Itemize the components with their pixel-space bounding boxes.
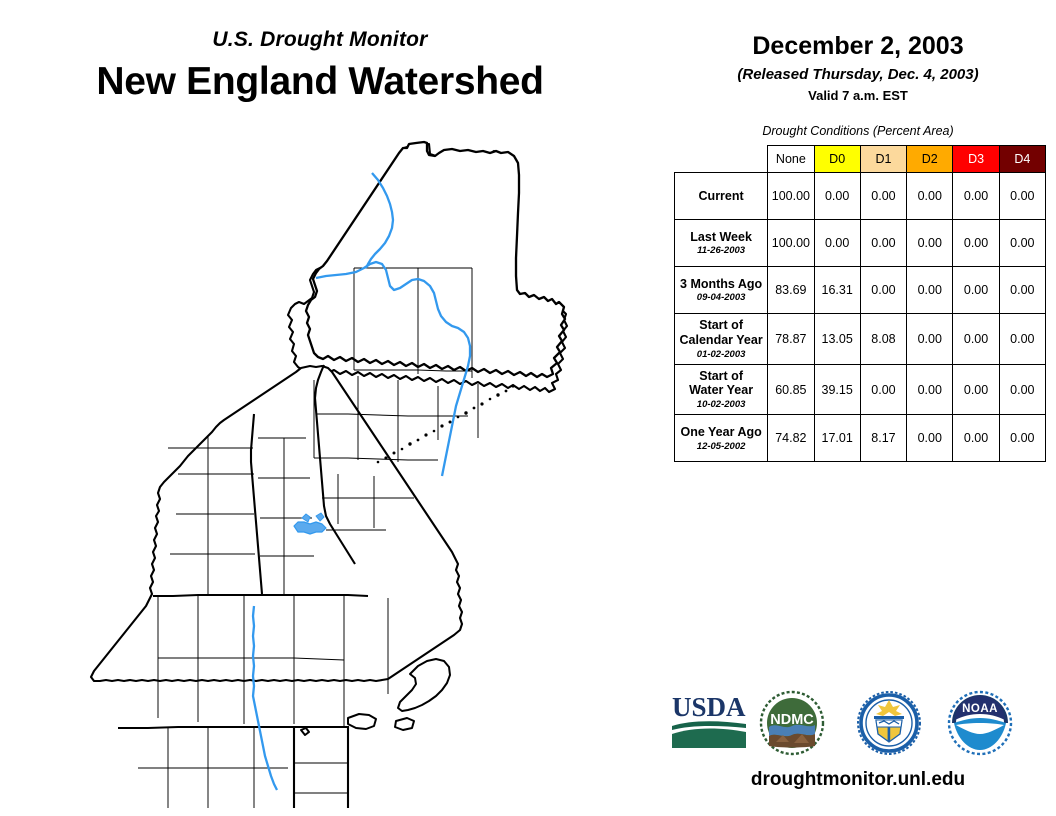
cell-none: 74.82	[768, 415, 814, 462]
cell-d1: 0.00	[860, 173, 906, 220]
cell-d2: 0.00	[907, 415, 953, 462]
cell-none: 100.00	[768, 220, 814, 267]
table-header-row: None D0 D1 D2 D3 D4	[675, 146, 1046, 173]
table-header: None D0 D1 D2 D3 D4	[675, 146, 1046, 173]
doc-seal-logo	[856, 690, 922, 756]
table-row: Last Week11-26-2003100.000.000.000.000.0…	[675, 220, 1046, 267]
page-title: New England Watershed	[0, 60, 640, 104]
row-label: 3 Months Ago09-04-2003	[675, 267, 768, 314]
cell-d2: 0.00	[907, 364, 953, 415]
table-row: 3 Months Ago09-04-200383.6916.310.000.00…	[675, 267, 1046, 314]
table-corner-cell	[675, 146, 768, 173]
table-body: Current100.000.000.000.000.000.00Last We…	[675, 173, 1046, 462]
nantucket	[395, 718, 414, 730]
svg-text:USDA: USDA	[672, 692, 746, 722]
map-svg	[58, 118, 628, 808]
cell-d2: 0.00	[907, 173, 953, 220]
row-date: 10-02-2003	[678, 399, 764, 410]
column-header-d0: D0	[814, 146, 860, 173]
cell-d2: 0.00	[907, 314, 953, 365]
cell-d1: 8.17	[860, 415, 906, 462]
row-date: 11-26-2003	[678, 245, 764, 256]
cell-none: 60.85	[768, 364, 814, 415]
logo-row: USDA NDMC NOAA	[660, 690, 1056, 762]
cell-d0: 17.01	[814, 415, 860, 462]
cell-d0: 0.00	[814, 173, 860, 220]
column-header-d4: D4	[999, 146, 1045, 173]
cell-d0: 16.31	[814, 267, 860, 314]
row-label: Start ofWater Year10-02-2003	[675, 364, 768, 415]
cell-d4: 0.00	[999, 364, 1045, 415]
cell-d3: 0.00	[953, 267, 999, 314]
cell-d2: 0.00	[907, 220, 953, 267]
noaa-logo: NOAA	[947, 690, 1013, 756]
table-caption: Drought Conditions (Percent Area)	[660, 124, 1056, 138]
cell-d3: 0.00	[953, 364, 999, 415]
table-row: One Year Ago12-05-200274.8217.018.170.00…	[675, 415, 1046, 462]
cell-d4: 0.00	[999, 220, 1045, 267]
region-southern-new-england	[91, 366, 462, 681]
usda-logo: USDA	[670, 690, 748, 752]
cell-d4: 0.00	[999, 415, 1045, 462]
report-date: December 2, 2003	[660, 32, 1056, 61]
title-block: U.S. Drought Monitor New England Watersh…	[0, 28, 640, 104]
map-layer-outline	[306, 142, 565, 377]
cell-d0: 13.05	[814, 314, 860, 365]
cell-d4: 0.00	[999, 173, 1045, 220]
cell-d3: 0.00	[953, 415, 999, 462]
cell-d3: 0.00	[953, 220, 999, 267]
marthas-vineyard	[348, 714, 376, 729]
svg-text:NDMC: NDMC	[770, 712, 814, 728]
row-label: Last Week11-26-2003	[675, 220, 768, 267]
cell-none: 78.87	[768, 314, 814, 365]
svg-text:NOAA: NOAA	[962, 703, 998, 715]
row-label: Start ofCalendar Year01-02-2003	[675, 314, 768, 365]
cell-d2: 0.00	[907, 267, 953, 314]
cell-d1: 0.00	[860, 364, 906, 415]
row-date: 09-04-2003	[678, 292, 764, 303]
cell-d3: 0.00	[953, 314, 999, 365]
column-header-d3: D3	[953, 146, 999, 173]
program-subtitle: U.S. Drought Monitor	[0, 28, 640, 52]
drought-map[interactable]	[58, 118, 628, 808]
cell-d1: 0.00	[860, 220, 906, 267]
ndmc-logo: NDMC	[758, 690, 826, 756]
row-label: Current	[675, 173, 768, 220]
drought-conditions-table: None D0 D1 D2 D3 D4 Current100.000.000.0…	[674, 145, 1046, 462]
cell-d4: 0.00	[999, 314, 1045, 365]
website-url[interactable]: droughtmonitor.unl.edu	[660, 769, 1056, 791]
cell-d1: 0.00	[860, 267, 906, 314]
table-row: Start ofWater Year10-02-200360.8539.150.…	[675, 364, 1046, 415]
row-date: 12-05-2002	[678, 441, 764, 452]
cell-d1: 8.08	[860, 314, 906, 365]
cell-d3: 0.00	[953, 173, 999, 220]
watershed-outline	[306, 142, 565, 377]
row-label: One Year Ago12-05-2002	[675, 415, 768, 462]
table-row: Current100.000.000.000.000.000.00	[675, 173, 1046, 220]
cell-none: 100.00	[768, 173, 814, 220]
valid-time: Valid 7 a.m. EST	[660, 88, 1056, 103]
table-row: Start ofCalendar Year01-02-200378.8713.0…	[675, 314, 1046, 365]
cell-d0: 39.15	[814, 364, 860, 415]
column-header-d1: D1	[860, 146, 906, 173]
map-layer-coastal-detail	[377, 384, 515, 463]
block-island	[301, 728, 309, 735]
row-date: 01-02-2003	[678, 349, 764, 360]
release-date: (Released Thursday, Dec. 4, 2003)	[660, 66, 1056, 83]
cell-d0: 0.00	[814, 220, 860, 267]
cell-d4: 0.00	[999, 267, 1045, 314]
column-header-d2: D2	[907, 146, 953, 173]
cell-none: 83.69	[768, 267, 814, 314]
column-header-none: None	[768, 146, 814, 173]
